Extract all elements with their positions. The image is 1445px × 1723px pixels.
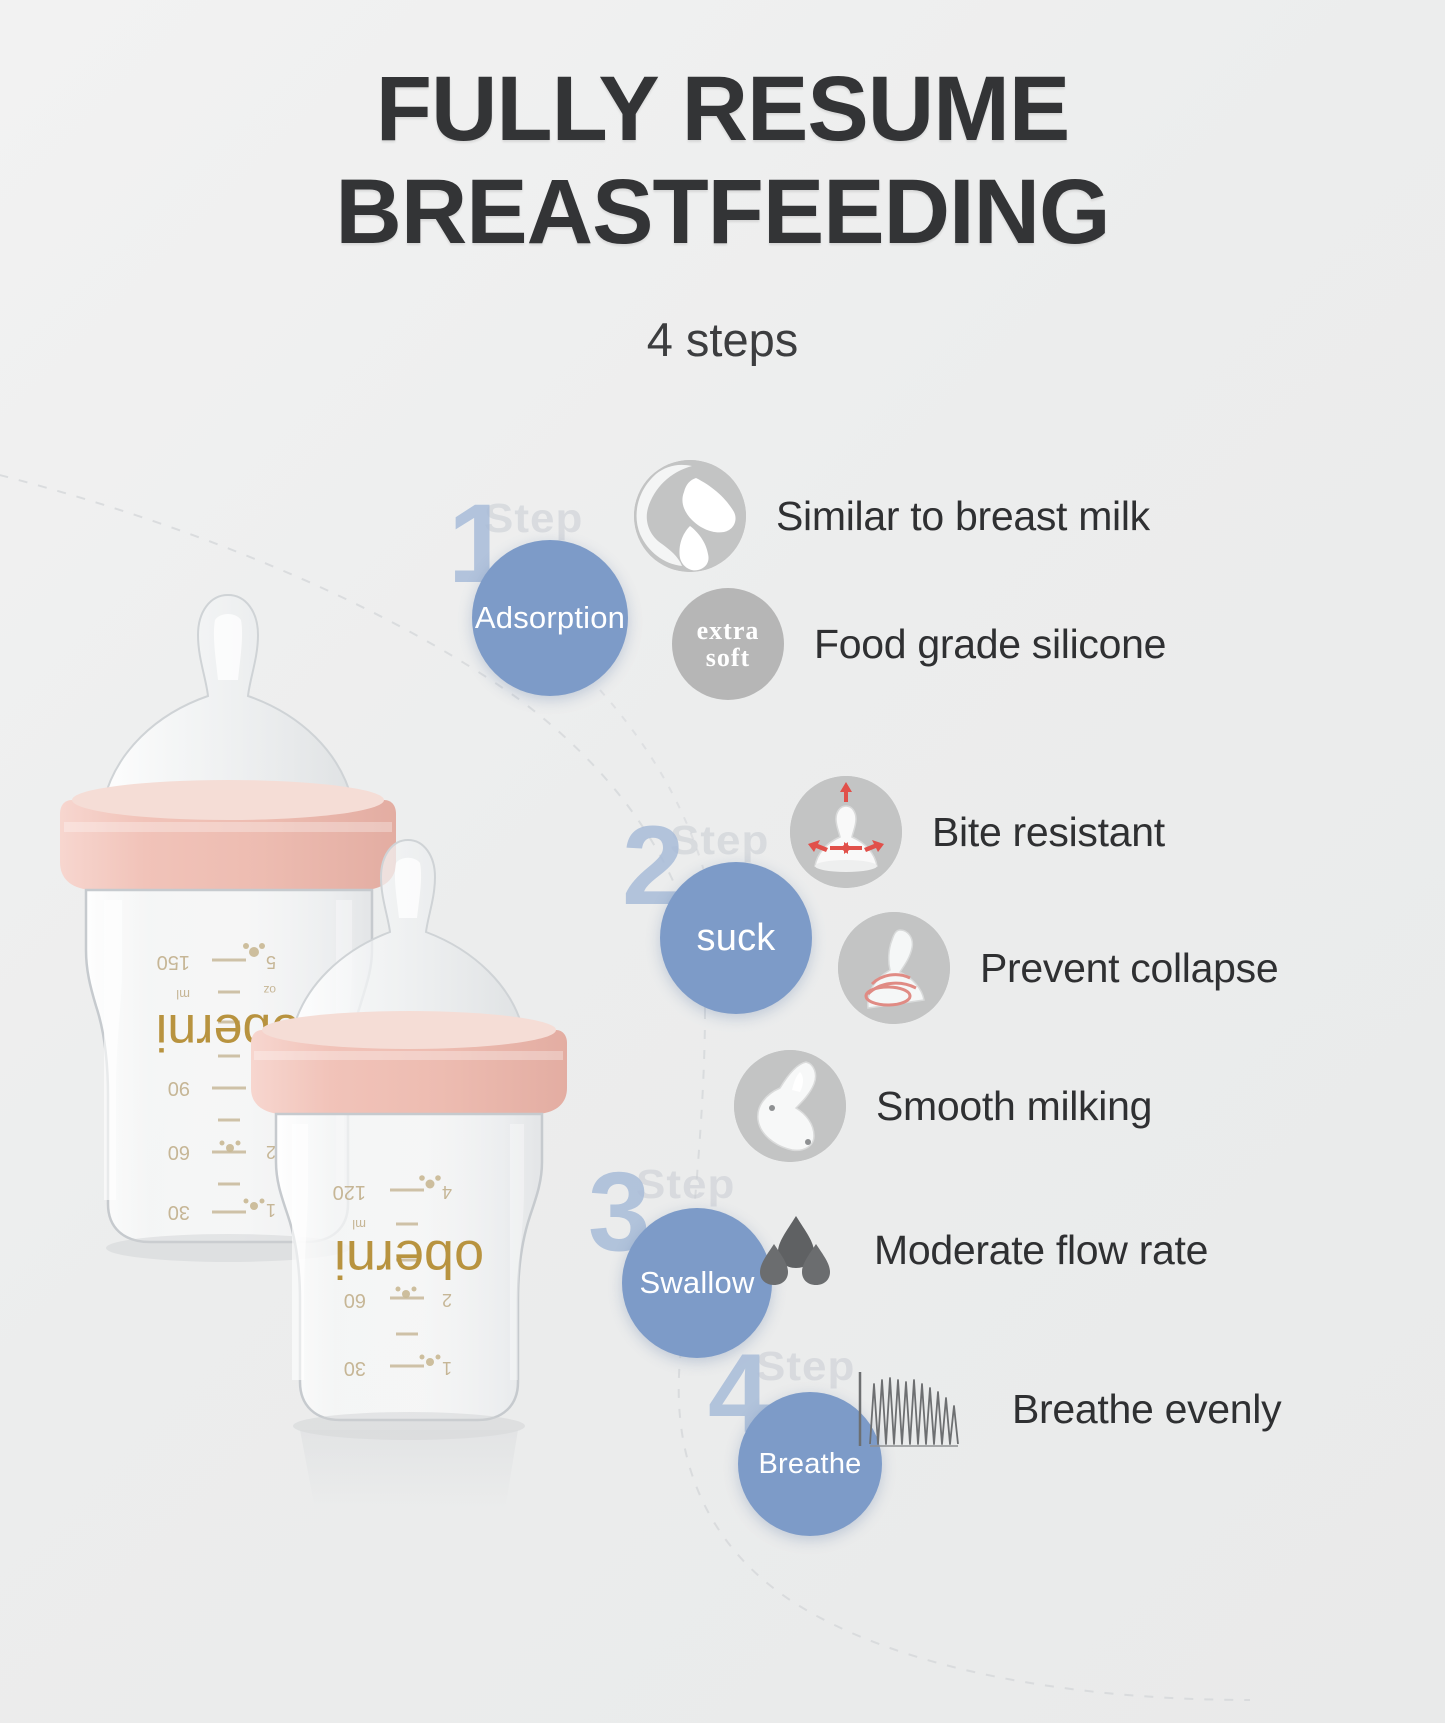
feature-label-2: Food grade silicone [814,621,1166,668]
feature-label-7: Breathe evenly [1012,1386,1281,1433]
feature-prevent-collapse[interactable]: Prevent collapse [838,912,1278,1024]
feature-smooth-milking[interactable]: Smooth milking [734,1050,1152,1162]
step-1-bubble[interactable]: Adsorption [472,540,628,696]
feature-similar-to-breast-milk[interactable]: Similar to breast milk [634,460,1150,572]
feature-label-4: Prevent collapse [980,945,1278,992]
step-4-label: Breathe [759,1448,862,1481]
step-2-label: suck [697,917,776,960]
nipple-tilted-icon [734,1050,846,1162]
feature-breathe-evenly[interactable]: Breathe evenly [856,1366,1281,1452]
feature-moderate-flow-rate[interactable]: Moderate flow rate [756,1210,1208,1290]
feature-label-6: Moderate flow rate [874,1227,1208,1274]
badge-line-2: soft [706,644,750,671]
feature-label-1: Similar to breast milk [776,493,1150,540]
feature-food-grade-silicone[interactable]: extra soft Food grade silicone [672,588,1166,700]
step-3-label: Swallow [639,1265,754,1301]
nipple-anticollapse-icon [838,912,950,1024]
breathing-waveform-icon [856,1366,976,1452]
step-3-ghost-label: Step [636,1162,735,1208]
step-4-ghost-label: Step [756,1344,855,1390]
feature-label-5: Smooth milking [876,1083,1152,1130]
feature-bite-resistant[interactable]: Bite resistant [790,776,1165,888]
step-2-ghost-label: Step [670,818,769,864]
feature-label-3: Bite resistant [932,809,1165,856]
nipple-cross-section-icon [634,460,746,572]
extra-soft-badge-icon: extra soft [672,588,784,700]
water-drops-icon [756,1210,836,1290]
step-1-label: Adsorption [475,600,625,636]
badge-line-1: extra [697,617,760,644]
nipple-expand-arrows-icon [790,776,902,888]
steps-list: Step 1 Adsorption Similar to breast milk… [0,0,1445,1723]
